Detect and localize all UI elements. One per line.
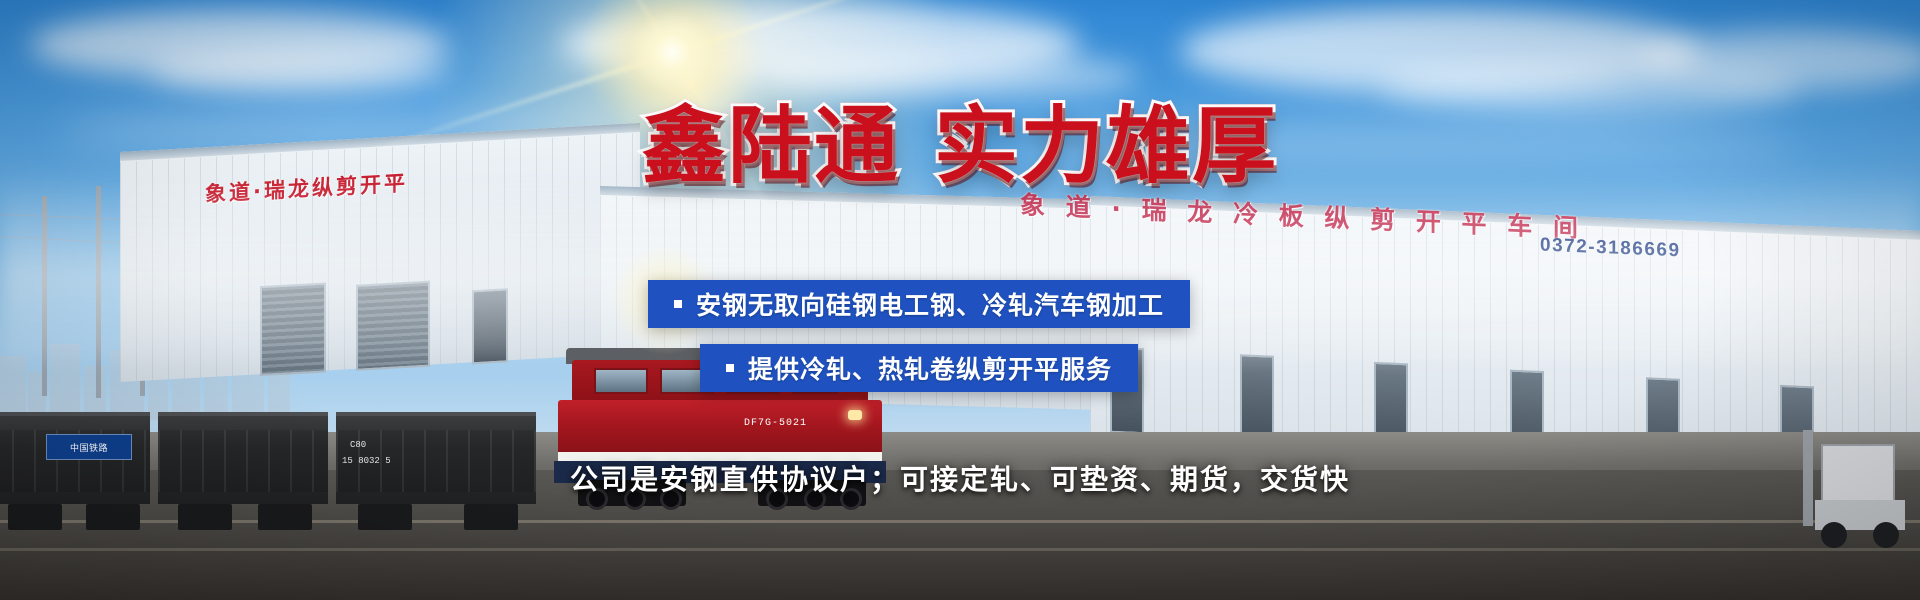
forklift-tire [1821,522,1847,548]
wagon-bogie [358,504,412,530]
wagon-bogie [464,504,518,530]
callout-box-2[interactable]: 提供冷轧、热轧卷纵剪开平服务 [700,344,1138,392]
callout-box-1[interactable]: 安钢无取向硅钢电工钢、冷轧汽车钢加工 [648,280,1190,328]
cloud-shape [760,52,1140,100]
square-bullet-icon [726,364,734,372]
service-door [1240,354,1274,441]
railway-logo-sign: 中国铁路 [46,434,132,460]
wagon-plate-top: C80 [350,440,366,450]
cloud-shape [150,48,450,94]
headline-part-2: 实力雄厚 [934,97,1278,195]
loco-number: DF7G-5021 [744,418,807,429]
headlamp [848,410,862,420]
callout-text-2: 提供冷轧、热轧卷纵剪开平服务 [748,350,1112,386]
wagon-bogie [258,504,312,530]
railway-sign-label: 中国铁路 [70,441,108,454]
loco-window [594,368,648,394]
wagon-bogie [178,504,232,530]
rail-track [0,548,1920,551]
headline-part-1: 鑫陆通 [642,97,900,195]
forklift-tire [1873,522,1899,548]
wagon-bogie [8,504,62,530]
tagline: 公司是安钢直供协议户；可接定轧、可垫资、期货，交货快 [0,458,1920,498]
hero-banner: 象道·瑞龙纵剪开平 象 道 · 瑞 龙 冷 板 纵 剪 开 平 车 间 0372… [0,0,1920,600]
square-bullet-icon [674,300,682,308]
wagon-bogie [86,504,140,530]
page-title: 鑫陆通实力雄厚 [0,104,1920,188]
cloud-shape [1640,30,1920,90]
callout-text-1: 安钢无取向硅钢电工钢、冷轧汽车钢加工 [696,286,1164,322]
atmospheric-haze [0,170,1920,360]
